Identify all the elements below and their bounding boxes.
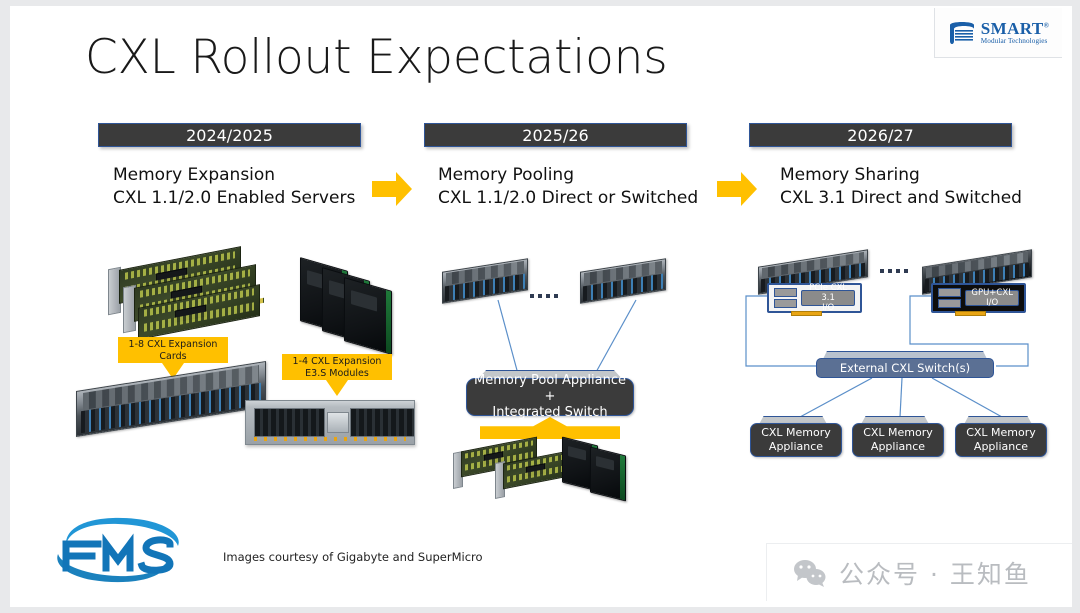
gpu-cxl-node-card: GPU+CXL I/O bbox=[931, 283, 1026, 313]
callout-line-2: E3.S Modules bbox=[293, 368, 382, 380]
cxl-memory-appliance-1: CXL Memory Appliance bbox=[750, 423, 842, 457]
watermark-text: 公众号 · 王知鱼 bbox=[839, 555, 1031, 591]
year-bar-2025-26: 2025/26 bbox=[424, 123, 687, 147]
registered-mark: ® bbox=[1044, 21, 1050, 29]
pcie-expansion-cards-image bbox=[105, 254, 265, 346]
node-label-line-2: I/O bbox=[971, 298, 1013, 308]
memory-pool-appliance-box: Memory Pool Appliance + Integrated Switc… bbox=[466, 378, 634, 416]
e3s-modules-image bbox=[300, 264, 398, 349]
year-bar-2024-2025: 2024/2025 bbox=[98, 123, 361, 147]
appliance-connector-lines bbox=[740, 377, 1070, 419]
column-3-description: Memory Sharing CXL 3.1 Direct and Switch… bbox=[780, 164, 1022, 211]
pcie-cxl-node-card: PCIe CXL 3.1 I/O bbox=[767, 283, 862, 313]
slide-canvas: CXL Rollout Expectations SMART® Modular … bbox=[10, 6, 1072, 607]
column-2-heading: Memory Pooling bbox=[438, 164, 698, 187]
appliance-line-2: Integrated Switch bbox=[467, 405, 633, 421]
column-3-subheading: CXL 3.1 Direct and Switched bbox=[780, 187, 1022, 210]
appliance-line-1: CXL Memory bbox=[863, 426, 933, 440]
page-title: CXL Rollout Expectations bbox=[85, 30, 668, 85]
column-2-subheading: CXL 1.1/2.0 Direct or Switched bbox=[438, 187, 698, 210]
nic-amber-strip bbox=[791, 311, 822, 316]
nic-amber-strip bbox=[955, 311, 986, 316]
wechat-watermark: 公众号 · 王知鱼 bbox=[766, 543, 1072, 601]
nic-ports bbox=[938, 288, 962, 308]
smart-modular-logo: SMART® Modular Technologies bbox=[934, 8, 1062, 58]
external-cxl-switch-box: External CXL Switch(s) bbox=[816, 358, 994, 378]
gpu-cxl-io-label: GPU+CXL I/O bbox=[965, 290, 1020, 307]
pool-connector-lines bbox=[440, 296, 680, 381]
column-1-description: Memory Expansion CXL 1.1/2.0 Enabled Ser… bbox=[113, 164, 355, 211]
flow-arrow-icon-1 bbox=[370, 169, 414, 209]
appliance-line-2: Appliance bbox=[966, 440, 1036, 454]
column-2-description: Memory Pooling CXL 1.1/2.0 Direct or Swi… bbox=[438, 164, 698, 211]
column-1-subheading: CXL 1.1/2.0 Enabled Servers bbox=[113, 187, 355, 210]
callout-line-1: 1-8 CXL Expansion bbox=[129, 339, 218, 351]
flow-arrow-icon-2 bbox=[715, 169, 759, 209]
smart-brand-name: SMART bbox=[981, 19, 1044, 38]
appliance-line-2: Appliance bbox=[761, 440, 831, 454]
node-label-line-1: PCIe CXL 3.1 bbox=[802, 283, 855, 303]
column-1-heading: Memory Expansion bbox=[113, 164, 355, 187]
smart-tagline: Modular Technologies bbox=[981, 38, 1049, 45]
appliance-line-2: Appliance bbox=[863, 440, 933, 454]
appliance-line-1: CXL Memory bbox=[761, 426, 831, 440]
smart-logo-text: SMART® Modular Technologies bbox=[981, 20, 1049, 45]
share-servers-ellipsis bbox=[880, 269, 908, 273]
pcie-cxl-io-label: PCIe CXL 3.1 I/O bbox=[801, 290, 856, 307]
year-bar-2026-27: 2026/27 bbox=[749, 123, 1012, 147]
wechat-icon bbox=[793, 559, 827, 587]
smart-logo-mark bbox=[948, 20, 976, 46]
cxl-memory-appliance-3: CXL Memory Appliance bbox=[955, 423, 1047, 457]
node-label-line-1: GPU+CXL bbox=[971, 288, 1013, 298]
fms-logo bbox=[48, 514, 188, 586]
appliance-line-1: CXL Memory bbox=[966, 426, 1036, 440]
supermicro-chassis-image bbox=[245, 400, 415, 445]
callout-line-2: Cards bbox=[129, 351, 218, 363]
nic-ports bbox=[774, 288, 798, 308]
callout-cxl-expansion-e3s: 1-4 CXL Expansion E3.S Modules bbox=[282, 354, 392, 396]
callout-line-1: 1-4 CXL Expansion bbox=[293, 356, 382, 368]
image-credits: Images courtesy of Gigabyte and SuperMic… bbox=[223, 550, 483, 564]
column-3-heading: Memory Sharing bbox=[780, 164, 1022, 187]
cxl-memory-appliance-2: CXL Memory Appliance bbox=[852, 423, 944, 457]
pool-e3s-modules-image bbox=[562, 441, 642, 497]
appliance-line-1: Memory Pool Appliance + bbox=[467, 373, 633, 406]
